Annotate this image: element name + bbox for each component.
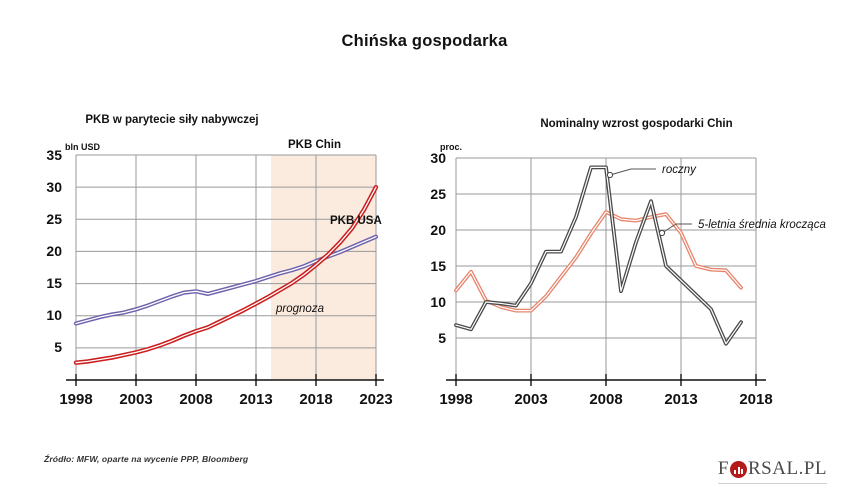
x-tick-2008: 2008 bbox=[179, 391, 212, 408]
y-tick-15: 15 bbox=[430, 258, 446, 274]
x-axis-labels-right: 1998 2003 2008 2013 2018 bbox=[439, 391, 772, 408]
logo-text: F RSAL.PL bbox=[718, 458, 827, 480]
forecast-band bbox=[271, 155, 376, 380]
y-tick-20: 20 bbox=[430, 222, 446, 238]
x-tick-2018: 2018 bbox=[299, 391, 332, 408]
chart-svg-nominal-growth: 30 25 20 15 10 5 1998 2003 2008 2013 20 bbox=[424, 0, 849, 500]
logo-text-part2: RSAL.PL bbox=[748, 458, 827, 480]
x-tick-2018: 2018 bbox=[739, 391, 772, 408]
y-tick-10: 10 bbox=[430, 294, 446, 310]
chart-panel-nominal-growth: Nominalny wzrost gospodarki Chin proc. bbox=[424, 0, 849, 500]
source-note: Źródło: MFW, oparte na wycenie PPP, Bloo… bbox=[44, 454, 248, 464]
y-tick-30: 30 bbox=[46, 179, 62, 195]
x-tick-2023: 2023 bbox=[359, 391, 392, 408]
logo-text-part1: F bbox=[718, 458, 729, 480]
y-tick-10: 10 bbox=[46, 307, 62, 323]
annotation-label-moving-average: 5-letnia średnia krocząca bbox=[698, 219, 826, 231]
chart-svg-gdp-ppp: 35 30 25 20 15 10 5 1998 2003 2 bbox=[0, 0, 424, 500]
x-tick-2003: 2003 bbox=[119, 391, 152, 408]
y-tick-20: 20 bbox=[46, 243, 62, 259]
y-tick-5: 5 bbox=[54, 339, 62, 355]
y-tick-30: 30 bbox=[430, 150, 446, 166]
x-axis-labels-left: 1998 2003 2008 2013 2018 2023 bbox=[59, 391, 392, 408]
infographic-page: Chińska gospodarka PKB w parytecie siły … bbox=[0, 0, 849, 500]
forecast-annotation: prognoza bbox=[275, 303, 324, 315]
logo-bar-chart-icon bbox=[730, 461, 747, 478]
x-tick-1998: 1998 bbox=[439, 391, 472, 408]
x-tick-1998: 1998 bbox=[59, 391, 92, 408]
series-label-usa-gdp: PKB USA bbox=[330, 215, 382, 227]
chart-panel-gdp-ppp: PKB w parytecie siły nabywczej bln USD bbox=[0, 0, 424, 500]
x-tick-2008: 2008 bbox=[589, 391, 622, 408]
series-label-china-gdp: PKB Chin bbox=[288, 139, 341, 151]
y-tick-5: 5 bbox=[438, 330, 446, 346]
forsal-logo[interactable]: F RSAL.PL bbox=[718, 456, 827, 482]
y-axis-labels-right: 30 25 20 15 10 5 bbox=[430, 150, 446, 346]
y-tick-25: 25 bbox=[46, 211, 62, 227]
annotation-label-roczny: roczny bbox=[662, 164, 697, 176]
x-tick-2003: 2003 bbox=[514, 391, 547, 408]
y-tick-25: 25 bbox=[430, 186, 446, 202]
y-tick-15: 15 bbox=[46, 275, 62, 291]
x-tick-2013: 2013 bbox=[239, 391, 272, 408]
y-tick-35: 35 bbox=[46, 147, 62, 163]
x-tick-2013: 2013 bbox=[664, 391, 697, 408]
logo-underline bbox=[718, 483, 827, 484]
annotation-leader-roczny bbox=[607, 169, 656, 178]
y-axis-labels-left: 35 30 25 20 15 10 5 bbox=[46, 147, 62, 355]
